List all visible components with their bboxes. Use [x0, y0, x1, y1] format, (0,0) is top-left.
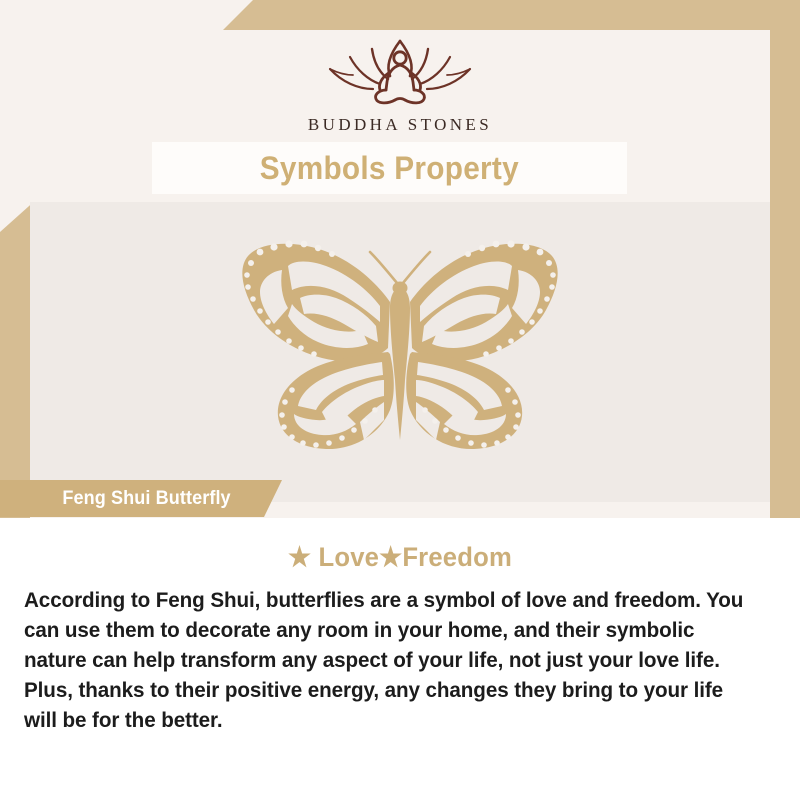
illustration-panel — [30, 202, 770, 502]
content-card: BUDDHA STONES Symbols Property — [30, 30, 770, 770]
description-panel: ★ Love★Freedom According to Feng Shui, b… — [0, 518, 800, 800]
brand-logo: BUDDHA STONES — [30, 30, 770, 152]
category-tab-label: Feng Shui Butterfly — [62, 488, 230, 510]
category-tab: Feng Shui Butterfly — [0, 480, 282, 517]
lotus-meditation-icon — [310, 32, 490, 114]
butterfly-icon — [230, 230, 570, 475]
brand-name: BUDDHA STONES — [308, 115, 492, 135]
title-banner: Symbols Property — [152, 142, 627, 194]
page-root: BUDDHA STONES Symbols Property — [0, 0, 800, 800]
page-title: Symbols Property — [260, 150, 519, 187]
subheading: ★ Love★Freedom — [20, 542, 780, 573]
body-paragraph: According to Feng Shui, butterflies are … — [24, 585, 748, 735]
